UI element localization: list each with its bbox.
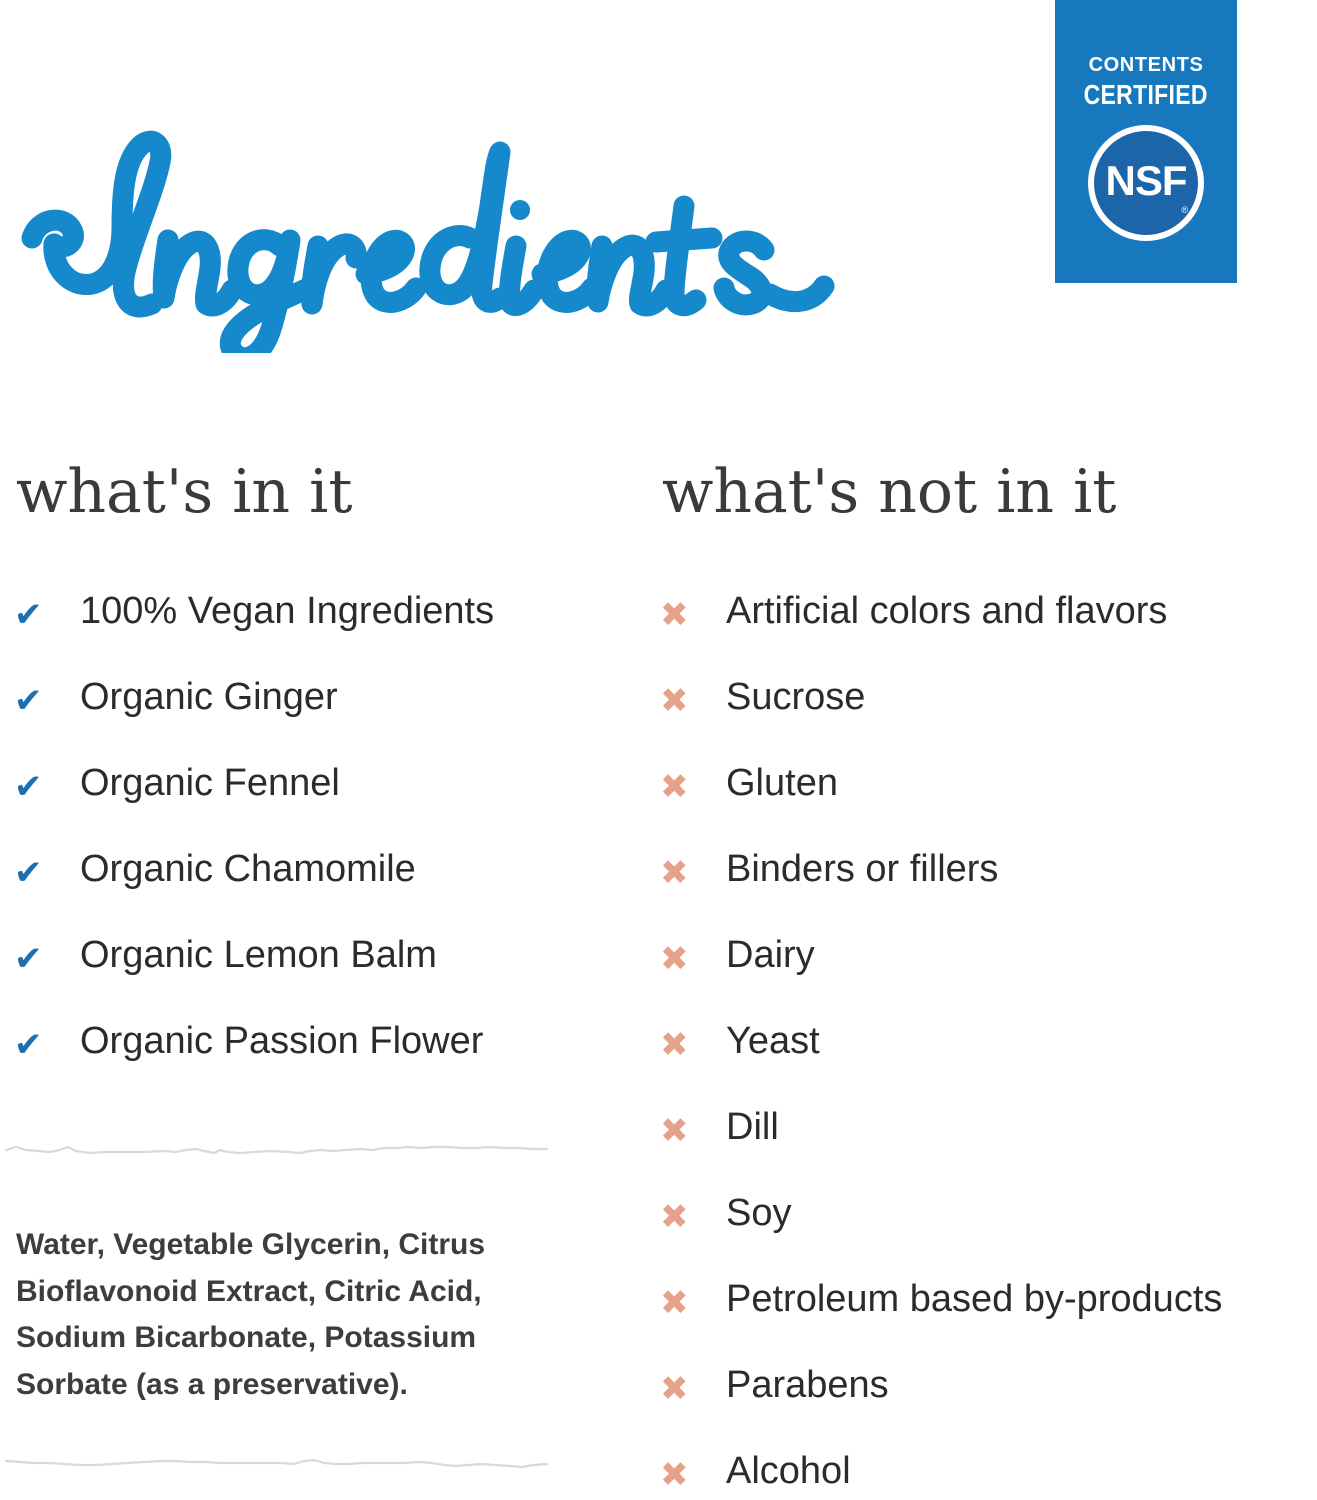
cross-icon: ✖ <box>660 850 726 890</box>
list-item: ✔ Organic Lemon Balm <box>14 936 634 1022</box>
check-icon: ✔ <box>14 592 80 632</box>
nsf-contents-certified-badge: CONTENTS CERTIFIED NSF ® <box>1055 0 1237 283</box>
list-item: ✖ Binders or fillers <box>660 850 1315 936</box>
list-item-label: Alcohol <box>726 1452 851 1492</box>
cross-icon: ✖ <box>660 1366 726 1406</box>
check-icon: ✔ <box>14 764 80 804</box>
cross-icon: ✖ <box>660 1108 726 1148</box>
ingredients-statement: Water, Vegetable Glycerin, Citrus Biofla… <box>16 1222 546 1408</box>
check-icon: ✔ <box>14 936 80 976</box>
list-item-label: Dairy <box>726 936 815 976</box>
list-item-label: Binders or fillers <box>726 850 998 890</box>
cross-icon: ✖ <box>660 1280 726 1320</box>
whats-not-in-it-list: ✖ Artificial colors and flavors ✖ Sucros… <box>660 592 1315 1500</box>
check-icon: ✔ <box>14 678 80 718</box>
list-item-label: 100% Vegan Ingredients <box>80 592 494 632</box>
nsf-logo-text: NSF <box>1106 160 1187 202</box>
list-item: ✔ 100% Vegan Ingredients <box>14 592 634 678</box>
list-item-label: Organic Chamomile <box>80 850 416 890</box>
divider-squiggle-top <box>4 1142 549 1158</box>
list-item: ✖ Alcohol <box>660 1452 1315 1500</box>
cross-icon: ✖ <box>660 1022 726 1062</box>
list-item-label: Petroleum based by-products <box>726 1280 1222 1320</box>
list-item-label: Soy <box>726 1194 791 1234</box>
ingredients-panel: CONTENTS CERTIFIED NSF ® Ingredients <box>0 0 1317 1500</box>
heading-whats-not-in-it: what's not in it <box>662 462 1116 522</box>
divider-squiggle-bottom <box>4 1455 549 1471</box>
registered-trademark-icon: ® <box>1181 205 1188 215</box>
cross-icon: ✖ <box>660 764 726 804</box>
check-icon: ✔ <box>14 850 80 890</box>
list-item-label: Parabens <box>726 1366 889 1406</box>
list-item: ✖ Dill <box>660 1108 1315 1194</box>
list-item: ✖ Yeast <box>660 1022 1315 1108</box>
list-item-label: Organic Lemon Balm <box>80 936 437 976</box>
list-item: ✖ Artificial colors and flavors <box>660 592 1315 678</box>
list-item-label: Organic Passion Flower <box>80 1022 483 1062</box>
list-item: ✔ Organic Ginger <box>14 678 634 764</box>
list-item-label: Yeast <box>726 1022 820 1062</box>
list-item: ✔ Organic Fennel <box>14 764 634 850</box>
whats-in-it-list: ✔ 100% Vegan Ingredients ✔ Organic Ginge… <box>14 592 634 1108</box>
cross-icon: ✖ <box>660 936 726 976</box>
list-item: ✖ Soy <box>660 1194 1315 1280</box>
list-item: ✖ Petroleum based by-products <box>660 1280 1315 1366</box>
nsf-inner-circle: NSF <box>1094 131 1198 235</box>
nsf-logo-icon: NSF ® <box>1088 125 1204 241</box>
badge-line-contents: CONTENTS <box>1089 55 1204 75</box>
list-item: ✔ Organic Chamomile <box>14 850 634 936</box>
cross-icon: ✖ <box>660 1452 726 1492</box>
list-item: ✔ Organic Passion Flower <box>14 1022 634 1108</box>
heading-whats-in-it: what's in it <box>16 462 352 522</box>
cross-icon: ✖ <box>660 1194 726 1234</box>
cross-icon: ✖ <box>660 592 726 632</box>
list-item-label: Dill <box>726 1108 779 1148</box>
cross-icon: ✖ <box>660 678 726 718</box>
list-item-label: Organic Fennel <box>80 764 340 804</box>
list-item-label: Sucrose <box>726 678 865 718</box>
list-item: ✖ Parabens <box>660 1366 1315 1452</box>
list-item: ✖ Dairy <box>660 936 1315 1022</box>
badge-line-certified: CERTIFIED <box>1084 81 1208 109</box>
list-item-label: Artificial colors and flavors <box>726 592 1167 632</box>
check-icon: ✔ <box>14 1022 80 1062</box>
list-item: ✖ Gluten <box>660 764 1315 850</box>
list-item-label: Gluten <box>726 764 838 804</box>
list-item-label: Organic Ginger <box>80 678 338 718</box>
page-title: Ingredients <box>18 118 898 353</box>
list-item: ✖ Sucrose <box>660 678 1315 764</box>
